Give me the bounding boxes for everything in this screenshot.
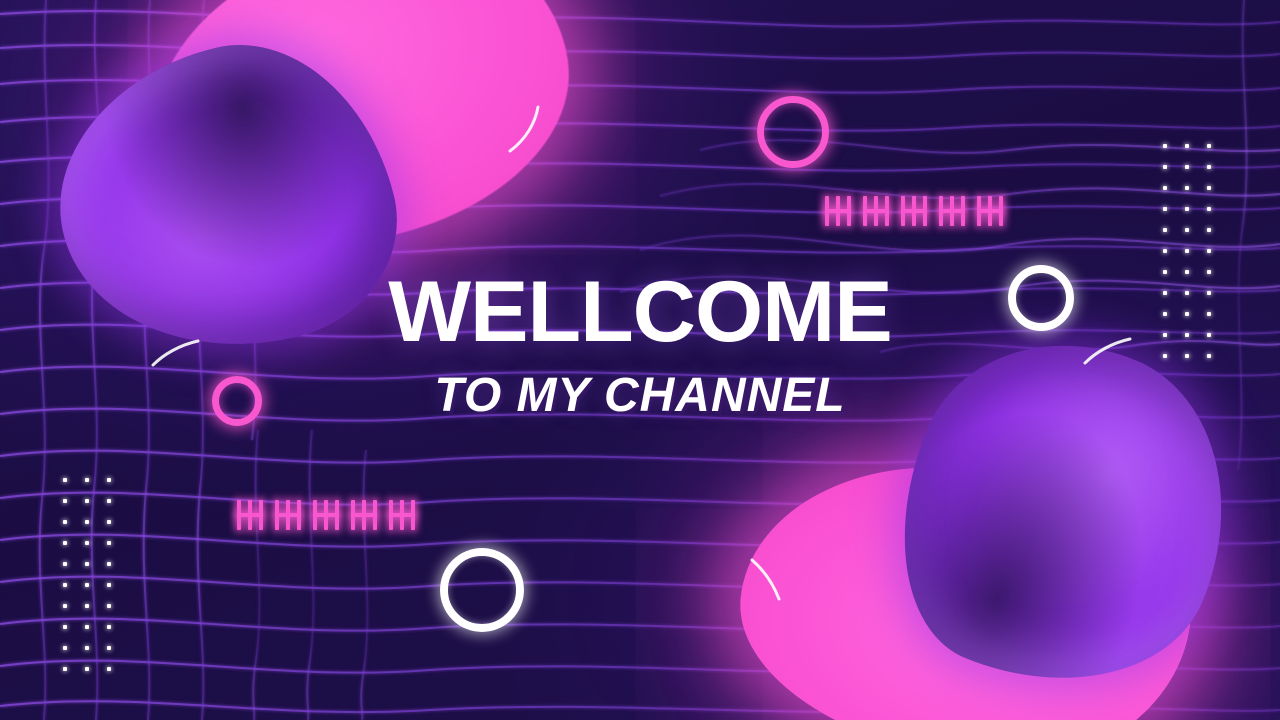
ring-white-large [440, 548, 524, 632]
ring-pink-small [212, 376, 262, 426]
hash-mark [313, 500, 339, 530]
hash-mark [939, 196, 965, 226]
ring-white-medium [1008, 265, 1074, 331]
hash-mark [275, 500, 301, 530]
hash-row-bottom-left [237, 500, 415, 530]
welcome-banner: WELLCOME TO MY CHANNEL [0, 0, 1280, 720]
dot-grid-right [1163, 144, 1211, 358]
hash-mark [825, 196, 851, 226]
arc-right-mid [1082, 336, 1134, 368]
hash-mark [351, 500, 377, 530]
hash-mark [389, 500, 415, 530]
hash-mark [901, 196, 927, 226]
hash-row-top-right [825, 196, 1003, 226]
dot-grid-left [63, 478, 111, 671]
arc-left-mid [150, 338, 202, 370]
arc-bottom-center [748, 556, 784, 602]
hash-mark [237, 500, 263, 530]
ring-pink-large [757, 96, 829, 168]
arc-top-center [505, 104, 545, 156]
hash-mark [977, 196, 1003, 226]
hash-mark [863, 196, 889, 226]
